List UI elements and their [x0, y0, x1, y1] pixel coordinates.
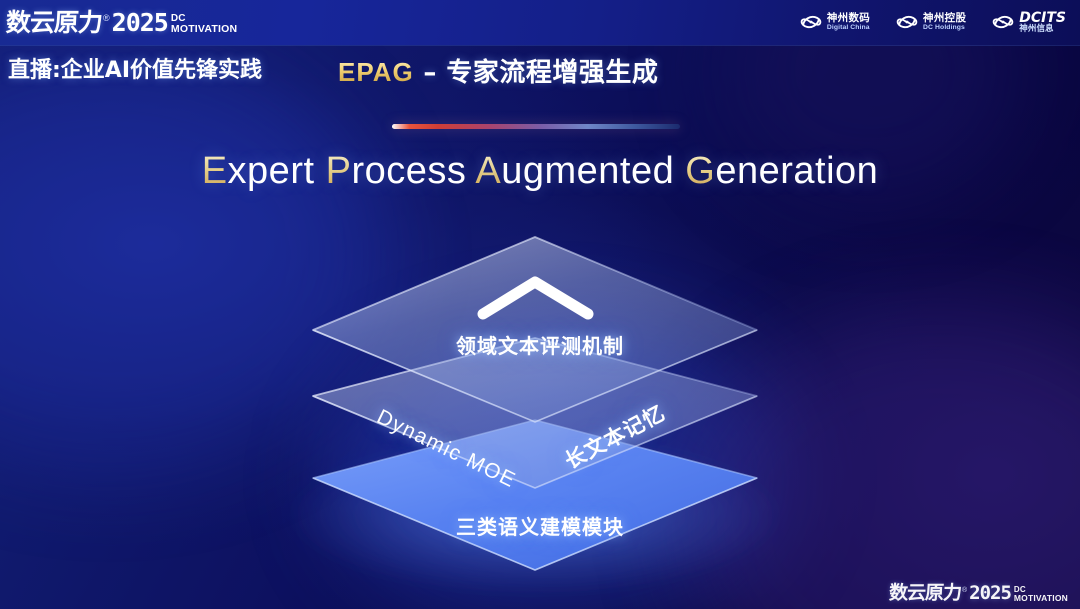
background-glow-left [0, 40, 380, 470]
footer-watermark-logo: 数云原力 ® 2025 DC MOTIVATION [889, 584, 1068, 603]
layer-top-lower-edge [313, 330, 757, 422]
top-banner: 数云原力 ® 2025 DC MOTIVATION 神州数码 Digital C… [0, 0, 1080, 45]
watermark-dc-motivation: DC MOTIVATION [1014, 586, 1068, 604]
layer-top [313, 237, 757, 422]
bottom-layer-glow [285, 435, 785, 595]
partner-name-cn: 神州数码 [827, 13, 870, 24]
en-title-word-process: rocess [351, 150, 475, 192]
slide-stage: 数云原力 ® 2025 DC MOTIVATION 神州数码 Digital C… [0, 0, 1080, 609]
partner-name-en: Digital China [827, 24, 870, 31]
event-brand-logo: 数云原力 ® 2025 DC MOTIVATION [6, 10, 237, 35]
brand-dc: DC [171, 14, 237, 24]
registered-mark-icon: ® [103, 14, 110, 23]
en-title-cap-p: P [326, 150, 352, 192]
gradient-divider [392, 124, 680, 129]
page-title-abbr: EPAG [338, 57, 414, 87]
layer-top-label: 领域文本评测机制 [0, 330, 1080, 359]
swirl-logo-icon [800, 11, 822, 33]
layers-svg [0, 0, 1080, 609]
en-title-word-generation: eneration [715, 150, 878, 192]
partner-name-cn: 神州信息 [1019, 25, 1066, 34]
stacked-layers-diagram: 领域文本评测机制 Dynamic MOE 长文本记忆 三类语义建模模块 [0, 0, 1080, 609]
layer-middle-label-right: 长文本记忆 [559, 397, 670, 475]
background-glow-bottomright [680, 309, 1080, 609]
partner-logo-dcits: DCITS 神州信息 [992, 11, 1066, 35]
en-title-cap-e: E [202, 150, 228, 192]
en-title-word-expert: xpert [228, 150, 326, 192]
layer-bottom-lower-edge [313, 478, 757, 570]
partner-logo-text: 神州数码 Digital China [827, 13, 870, 31]
layer-middle-lower-edge [313, 396, 757, 488]
layer-middle-label-left: Dynamic MOE [373, 405, 520, 493]
watermark-registered-mark-icon: ® [962, 587, 967, 594]
partner-logo-digital-china: 神州数码 Digital China [800, 11, 870, 33]
watermark-brand-year: 2025 [969, 584, 1011, 603]
english-title: Expert Process Augmented Generation [0, 150, 1080, 193]
partner-name-en: DC Holdings [923, 24, 966, 31]
page-title-dash: – [414, 58, 447, 88]
partner-logo-group: 神州数码 Digital China 神州控股 DC Holdings [800, 11, 1070, 35]
layer-bottom-label: 三类语义建模模块 [0, 511, 1080, 540]
watermark-motivation: MOTIVATION [1014, 594, 1068, 603]
partner-logo-text: 神州控股 DC Holdings [923, 13, 966, 31]
page-title-cn: 专家流程增强生成 [446, 58, 658, 88]
swirl-logo-icon [992, 11, 1014, 33]
partner-logo-text: DCITS 神州信息 [1019, 11, 1066, 35]
brand-motivation: MOTIVATION [171, 24, 237, 35]
layer-bottom-face [313, 420, 757, 570]
brand-year: 2025 [112, 10, 168, 35]
background-glow-center [330, 330, 790, 609]
page-title: EPAG – 专家流程增强生成 [338, 52, 658, 89]
partner-name-cn: 神州控股 [923, 13, 966, 24]
brand-name-cn: 数云原力 [5, 10, 102, 35]
en-title-cap-g: G [685, 150, 715, 192]
brand-dc-motivation: DC MOTIVATION [171, 14, 237, 36]
layer-middle-face [313, 338, 757, 488]
layer-bottom [313, 420, 757, 570]
layer-middle [313, 338, 757, 488]
partner-logo-dc-holdings: 神州控股 DC Holdings [896, 11, 966, 33]
swirl-logo-icon [896, 11, 918, 33]
en-title-word-augmented: ugmented [501, 150, 685, 192]
live-stream-label: 直播:企业AI价值先锋实践 [8, 52, 262, 84]
layer-top-face [313, 237, 757, 422]
watermark-brand-cn: 数云原力 [888, 584, 961, 603]
en-title-cap-a: A [475, 150, 501, 192]
chevron-up-icon [483, 282, 588, 314]
